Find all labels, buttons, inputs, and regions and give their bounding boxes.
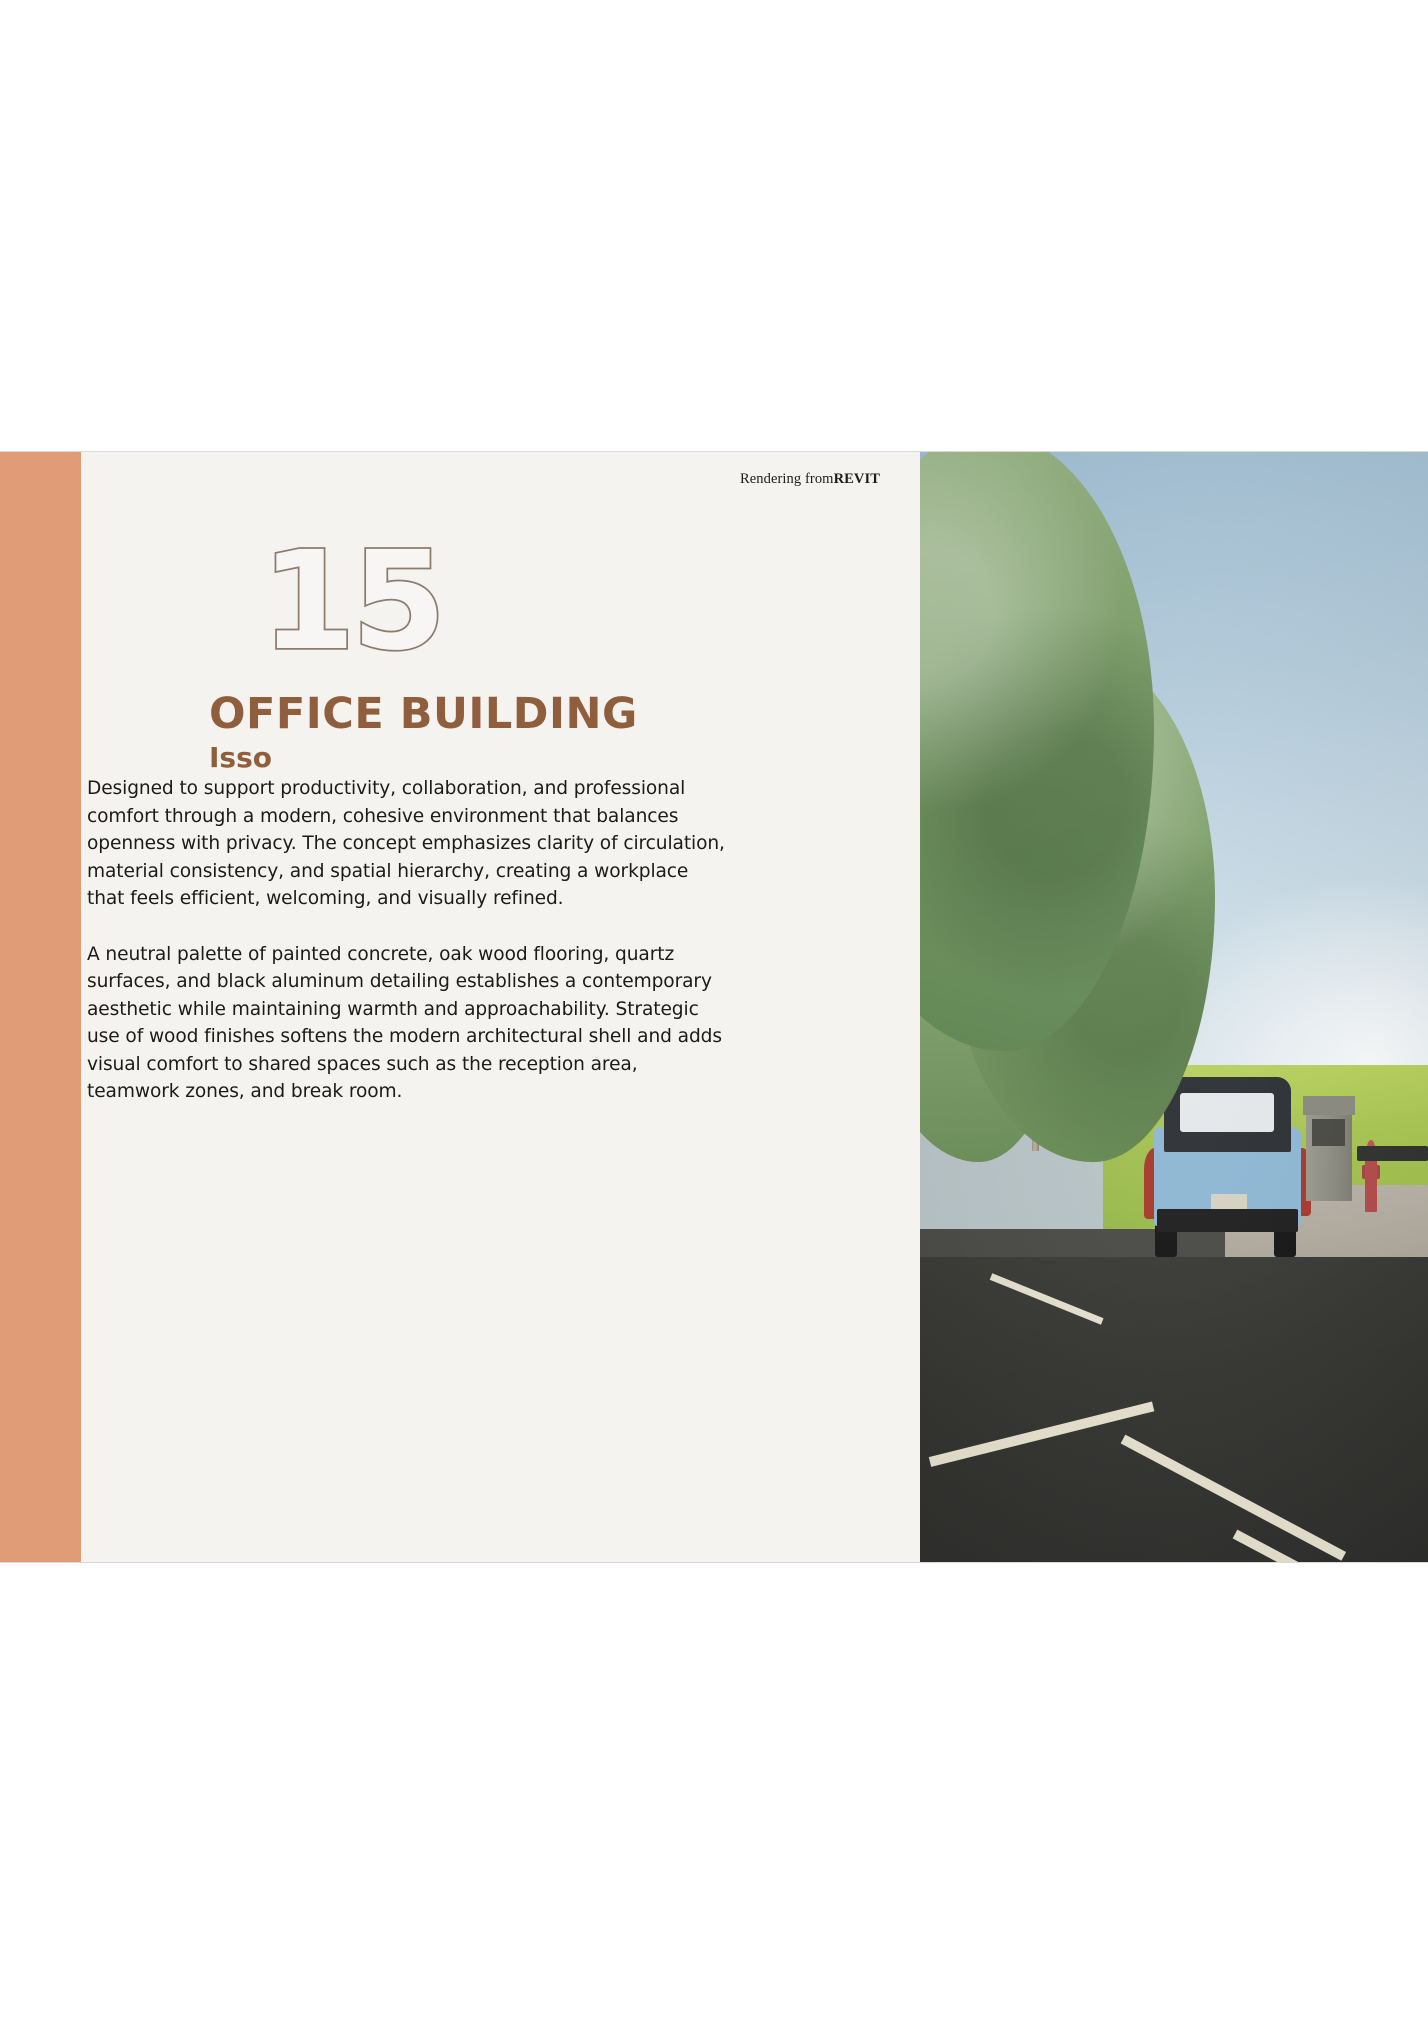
parking-lot-layer — [920, 1257, 1428, 1562]
body-paragraph-1: Designed to support productivity, collab… — [87, 775, 727, 913]
rendering-image: Exterior architectural rendering: parkin… — [920, 452, 1428, 1562]
accent-bar — [0, 452, 81, 1562]
car-rear-window — [1180, 1093, 1274, 1132]
page-subtitle: Isso — [209, 743, 638, 772]
car-license-plate — [1211, 1194, 1248, 1210]
text-column: Rendering fromREVIT 15 OFFICE BUILDING I… — [81, 452, 920, 1562]
rendering-source-tool: REVIT — [834, 471, 880, 487]
trash-bin-lid — [1303, 1096, 1354, 1115]
slide-card: Rendering fromREVIT 15 OFFICE BUILDING I… — [0, 452, 1428, 1562]
trash-bin — [1306, 1096, 1352, 1201]
trash-bin-slot — [1312, 1119, 1345, 1146]
chapter-number: 15 — [261, 534, 442, 670]
body-paragraph-2: A neutral palette of painted concrete, o… — [87, 941, 727, 1106]
title-block: OFFICE BUILDING Isso — [209, 692, 638, 773]
rendering-source-label: Rendering fromREVIT — [740, 471, 880, 488]
body-text: Designed to support productivity, collab… — [87, 775, 727, 1106]
page-title: OFFICE BUILDING — [209, 692, 638, 737]
car-bumper — [1157, 1209, 1298, 1232]
guard-rail — [1357, 1146, 1428, 1162]
fire-hydrant-body — [1365, 1153, 1377, 1212]
rendering-source-prefix: Rendering from — [740, 471, 834, 487]
